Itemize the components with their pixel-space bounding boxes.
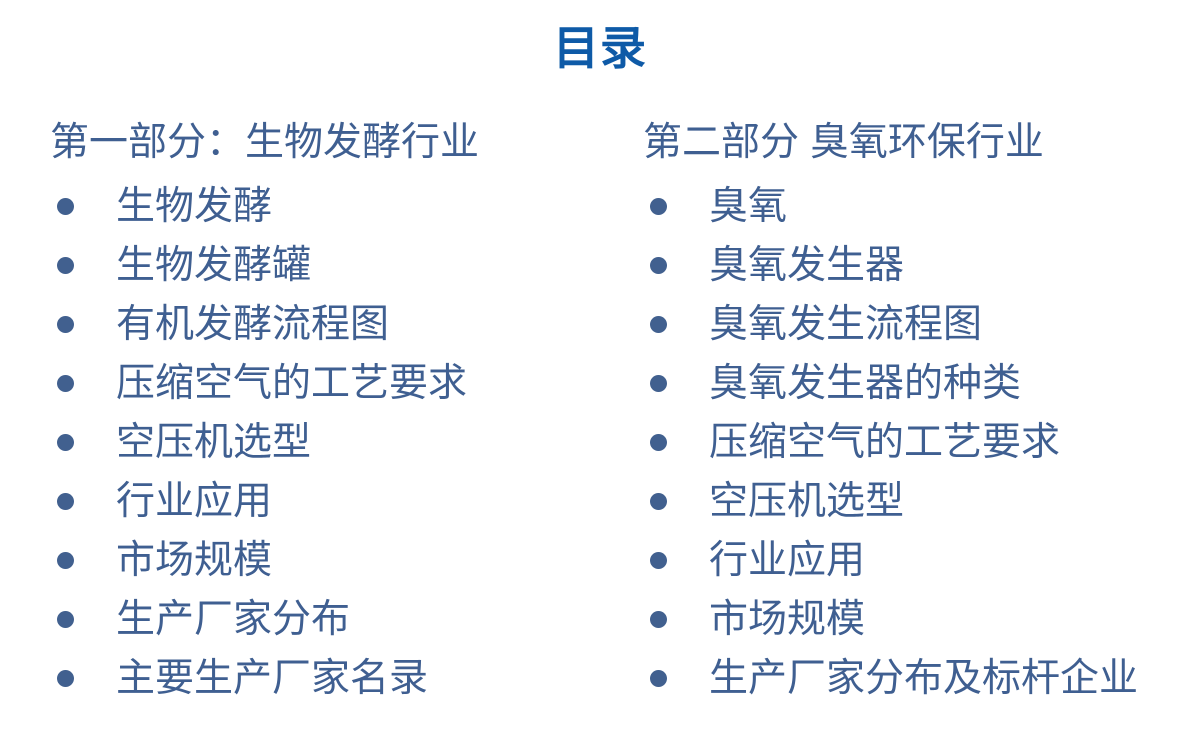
list-item[interactable]: 行业应用 — [50, 472, 610, 531]
bullet-icon — [650, 257, 667, 274]
list-item[interactable]: 主要生产厂家名录 — [50, 649, 610, 708]
column-header-part-two: 第二部分 臭氧环保行业 — [643, 118, 1200, 168]
bullet-icon — [57, 198, 74, 215]
list-item-label: 生产厂家分布及标杆企业 — [709, 657, 1138, 701]
list-item-label: 臭氧 — [709, 185, 787, 229]
page-title: 目录 — [0, 22, 1200, 74]
bullet-icon — [57, 434, 74, 451]
list-item-label: 臭氧发生器的种类 — [709, 362, 1021, 406]
list-item[interactable]: 生产厂家分布 — [50, 590, 610, 649]
list-item-label: 空压机选型 — [709, 480, 904, 524]
bullet-icon — [650, 493, 667, 510]
list-item-label: 生物发酵罐 — [116, 244, 311, 288]
bullet-icon — [650, 552, 667, 569]
bullet-icon — [650, 316, 667, 333]
column-header-part-one: 第一部分：生物发酵行业 — [50, 118, 610, 168]
list-item[interactable]: 市场规模 — [643, 590, 1200, 649]
list-item-label: 生产厂家分布 — [116, 598, 350, 642]
list-item[interactable]: 臭氧发生器 — [643, 236, 1200, 295]
toc-list-part-two: 臭氧 臭氧发生器 臭氧发生流程图 臭氧发生器的种类 压缩空气的工艺要求 空压机选… — [643, 177, 1200, 708]
bullet-icon — [57, 611, 74, 628]
list-item[interactable]: 空压机选型 — [643, 472, 1200, 531]
bullet-icon — [57, 375, 74, 392]
table-of-contents: 第一部分：生物发酵行业 生物发酵 生物发酵罐 有机发酵流程图 压缩空气的工艺要求… — [0, 118, 1200, 718]
bullet-icon — [57, 670, 74, 687]
list-item-label: 臭氧发生器 — [709, 244, 904, 288]
list-item-label: 主要生产厂家名录 — [116, 657, 428, 701]
list-item[interactable]: 生产厂家分布及标杆企业 — [643, 649, 1200, 708]
list-item-label: 生物发酵 — [116, 185, 272, 229]
bullet-icon — [57, 493, 74, 510]
bullet-icon — [650, 670, 667, 687]
list-item-label: 空压机选型 — [116, 421, 311, 465]
bullet-icon — [650, 198, 667, 215]
list-item-label: 行业应用 — [116, 480, 272, 524]
list-item[interactable]: 压缩空气的工艺要求 — [50, 354, 610, 413]
list-item[interactable]: 压缩空气的工艺要求 — [643, 413, 1200, 472]
toc-column-part-two: 第二部分 臭氧环保行业 臭氧 臭氧发生器 臭氧发生流程图 臭氧发生器的种类 压缩… — [643, 118, 1200, 708]
bullet-icon — [57, 257, 74, 274]
bullet-icon — [57, 552, 74, 569]
list-item-label: 压缩空气的工艺要求 — [116, 362, 467, 406]
list-item[interactable]: 行业应用 — [643, 531, 1200, 590]
bullet-icon — [57, 316, 74, 333]
bullet-icon — [650, 375, 667, 392]
list-item[interactable]: 生物发酵 — [50, 177, 610, 236]
list-item[interactable]: 有机发酵流程图 — [50, 295, 610, 354]
list-item[interactable]: 空压机选型 — [50, 413, 610, 472]
list-item[interactable]: 臭氧发生流程图 — [643, 295, 1200, 354]
list-item-label: 压缩空气的工艺要求 — [709, 421, 1060, 465]
list-item-label: 市场规模 — [709, 598, 865, 642]
bullet-icon — [650, 611, 667, 628]
list-item-label: 臭氧发生流程图 — [709, 303, 982, 347]
list-item[interactable]: 臭氧 — [643, 177, 1200, 236]
bullet-icon — [650, 434, 667, 451]
list-item[interactable]: 臭氧发生器的种类 — [643, 354, 1200, 413]
toc-list-part-one: 生物发酵 生物发酵罐 有机发酵流程图 压缩空气的工艺要求 空压机选型 行业应用 — [50, 177, 610, 708]
list-item-label: 行业应用 — [709, 539, 865, 583]
toc-column-part-one: 第一部分：生物发酵行业 生物发酵 生物发酵罐 有机发酵流程图 压缩空气的工艺要求… — [50, 118, 610, 708]
list-item[interactable]: 市场规模 — [50, 531, 610, 590]
list-item[interactable]: 生物发酵罐 — [50, 236, 610, 295]
list-item-label: 市场规模 — [116, 539, 272, 583]
list-item-label: 有机发酵流程图 — [116, 303, 389, 347]
